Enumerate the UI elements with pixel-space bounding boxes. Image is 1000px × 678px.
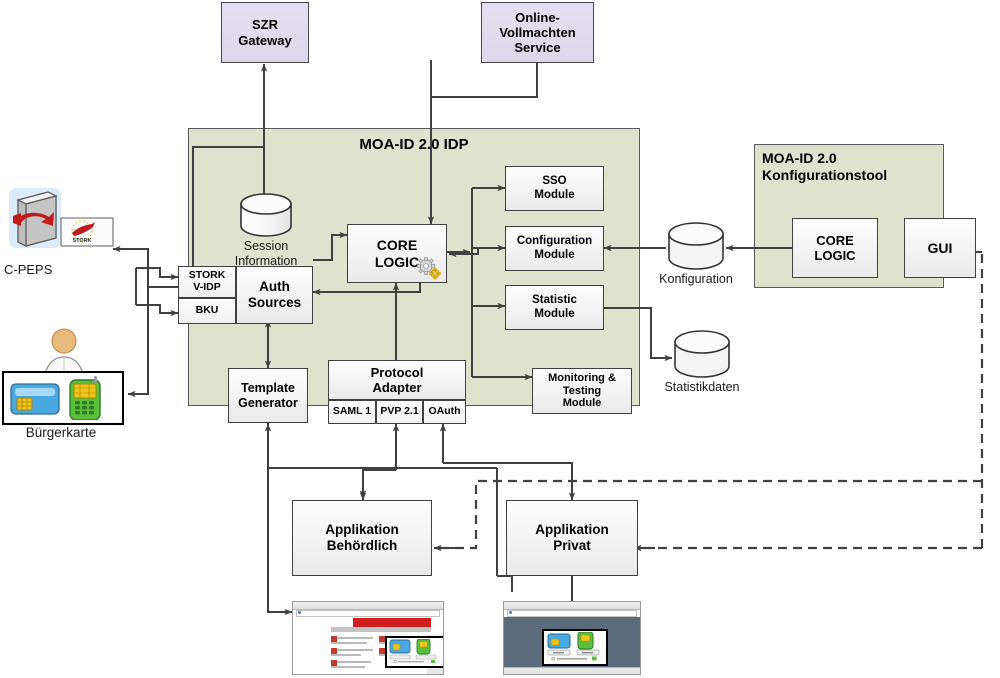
konfigtool-core-logic-label-line2: LOGIC	[814, 248, 855, 263]
c-peps-label: C-PEPS	[4, 262, 78, 278]
auth-sources-label-line2: Sources	[248, 295, 301, 311]
idp-core-logic-box[interactable]: CORE LOGIC	[347, 224, 447, 283]
configuration-module-box[interactable]: Configuration Module	[505, 226, 604, 271]
bku-box[interactable]: BKU	[178, 298, 236, 324]
statistic-module-box[interactable]: Statistic Module	[505, 285, 604, 330]
browser-titlebar	[293, 602, 443, 610]
sso-module-label-line1: SSO	[542, 175, 566, 188]
protocol-oauth-box[interactable]: OAuth	[423, 400, 466, 424]
c-peps-icon: STORK	[8, 186, 116, 256]
szr-gateway-label-line1: SZR	[252, 17, 278, 32]
szr-gateway-box[interactable]: SZR Gateway	[221, 2, 309, 63]
applikation-privat-box[interactable]: Applikation Privat	[506, 500, 638, 576]
applikation-privat-label-line1: Applikation	[535, 522, 609, 538]
online-vollmachten-service-box[interactable]: Online- Vollmachten Service	[481, 2, 594, 63]
konfigtool-core-logic-label-line1: CORE	[816, 233, 854, 248]
browser-urlbar	[507, 610, 637, 617]
bku-selection-widget[interactable]	[542, 629, 608, 666]
konfigtool-gui-label: GUI	[928, 240, 953, 256]
monitoring-testing-label-line2: Testing	[563, 385, 601, 398]
statistikdaten-store	[672, 330, 732, 378]
protocol-pvp21-label: PVP 2.1	[380, 406, 418, 418]
idp-core-logic-label-line2: LOGIC	[375, 254, 419, 270]
browser-favicon	[298, 611, 301, 614]
konfigurationstool-title-line2: Konfigurationstool	[762, 167, 942, 184]
online-vollmachten-label-line1: Online-	[515, 10, 560, 25]
configuration-module-label-line1: Configuration	[517, 235, 592, 248]
monitoring-testing-module-box[interactable]: Monitoring & Testing Module	[532, 368, 632, 414]
online-vollmachten-label-line3: Service	[514, 40, 560, 55]
applikation-behoerdlich-box[interactable]: Applikation Behördlich	[292, 500, 432, 576]
protocol-saml1-label: SAML 1	[333, 406, 371, 418]
statistic-module-label-line2: Module	[534, 308, 574, 321]
stork-vidp-box[interactable]: STORK V-IDP	[178, 266, 236, 298]
auth-sources-box[interactable]: Auth Sources	[236, 266, 313, 324]
bku-selection-widget-highlight[interactable]	[385, 636, 444, 668]
konfigtool-core-logic-box[interactable]: CORE LOGIC	[792, 218, 878, 278]
monitoring-testing-label-line1: Monitoring &	[548, 372, 616, 385]
applikation-behoerdlich-label-line1: Applikation	[325, 522, 399, 538]
protocol-adapter-label-line1: Protocol	[371, 365, 424, 380]
template-generator-box[interactable]: Template Generator	[228, 368, 308, 423]
protocol-pvp21-box[interactable]: PVP 2.1	[376, 400, 423, 424]
privat-browser-screenshot[interactable]	[503, 601, 641, 675]
protocol-saml1-box[interactable]: SAML 1	[328, 400, 376, 424]
protocol-oauth-label: OAuth	[428, 406, 460, 418]
stork-vidp-label-line2: V-IDP	[193, 282, 220, 294]
configuration-module-label-line2: Module	[534, 249, 574, 262]
site-logo	[331, 618, 353, 627]
behoerdlich-browser-screenshot[interactable]	[292, 601, 444, 675]
buergerkarte-devices-box	[2, 371, 124, 425]
statistic-module-label-line1: Statistic	[532, 294, 577, 307]
gear-icon	[415, 256, 443, 280]
browser-titlebar	[504, 602, 640, 610]
auth-sources-label-line1: Auth	[259, 279, 290, 295]
monitoring-testing-label-line3: Module	[563, 397, 602, 410]
online-vollmachten-label-line2: Vollmachten	[499, 25, 575, 40]
buergerkarte-label: Bürgerkarte	[2, 425, 120, 441]
szr-gateway-label-line2: Gateway	[238, 33, 291, 48]
konfiguration-store	[666, 222, 726, 270]
bku-label: BKU	[196, 305, 219, 317]
session-information-label-line1: Session	[214, 239, 318, 254]
session-information-label: Session Information	[214, 239, 318, 269]
content-column-left	[331, 635, 375, 673]
statistikdaten-store-label: Statistikdaten	[648, 380, 756, 395]
konfigurationstool-title-line1: MOA-ID 2.0	[762, 150, 942, 167]
site-nav-band	[331, 627, 431, 632]
applikation-privat-label-line2: Privat	[553, 538, 591, 554]
page-statusbar	[504, 667, 640, 674]
protocol-adapter-label-line2: Adapter	[372, 380, 421, 395]
moa-id-idp-title: MOA-ID 2.0 IDP	[188, 136, 640, 154]
protocol-adapter-box[interactable]: Protocol Adapter	[328, 360, 466, 400]
applikation-behoerdlich-label-line2: Behördlich	[327, 538, 398, 554]
idp-core-logic-label-line1: CORE	[377, 237, 417, 253]
browser-urlbar	[296, 610, 440, 617]
svg-text:STORK: STORK	[73, 238, 92, 244]
sso-module-label-line2: Module	[534, 189, 574, 202]
template-generator-label-line1: Template	[241, 381, 295, 396]
architecture-diagram: MOA-ID 2.0 IDP MOA-ID 2.0 Konfigurations…	[0, 0, 1000, 678]
konfigtool-gui-box[interactable]: GUI	[904, 218, 976, 278]
browser-favicon	[509, 611, 512, 614]
session-information-store	[238, 193, 294, 237]
konfiguration-store-label: Konfiguration	[645, 272, 747, 287]
template-generator-label-line2: Generator	[238, 396, 298, 411]
sso-module-box[interactable]: SSO Module	[505, 166, 604, 211]
